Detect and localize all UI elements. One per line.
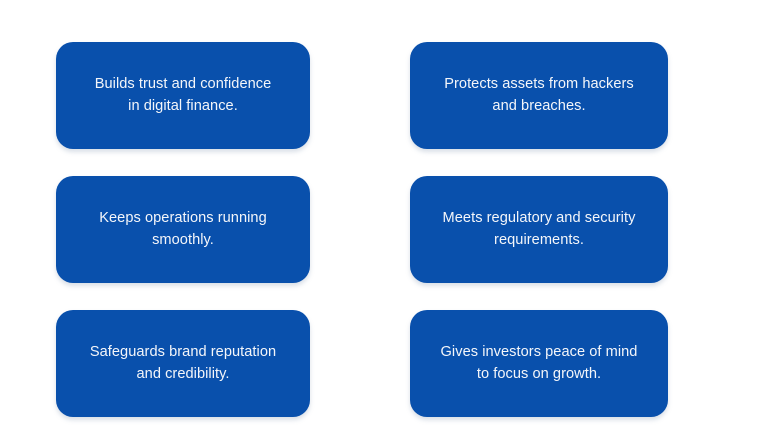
benefit-card-protects-assets[interactable]: Protects assets from hackers and breache…: [410, 42, 668, 149]
benefit-card-keeps-operations-running[interactable]: Keeps operations running smoothly.: [56, 176, 310, 283]
benefit-card-investors-peace-of-mind[interactable]: Gives investors peace of mind to focus o…: [410, 310, 668, 417]
benefit-card-text: Gives investors peace of mind to focus o…: [441, 342, 638, 385]
benefit-card-text: Keeps operations running smoothly.: [99, 208, 267, 251]
benefit-card-text: Meets regulatory and security requiremen…: [443, 208, 636, 251]
benefit-card-text: Builds trust and confidence in digital f…: [95, 74, 272, 117]
benefit-card-builds-trust[interactable]: Builds trust and confidence in digital f…: [56, 42, 310, 149]
benefit-card-text: Safeguards brand reputation and credibil…: [90, 342, 276, 385]
benefit-card-meets-regulatory[interactable]: Meets regulatory and security requiremen…: [410, 176, 668, 283]
benefit-card-safeguards-brand[interactable]: Safeguards brand reputation and credibil…: [56, 310, 310, 417]
benefit-card-text: Protects assets from hackers and breache…: [444, 74, 634, 117]
benefits-card-grid: Builds trust and confidence in digital f…: [0, 0, 768, 432]
